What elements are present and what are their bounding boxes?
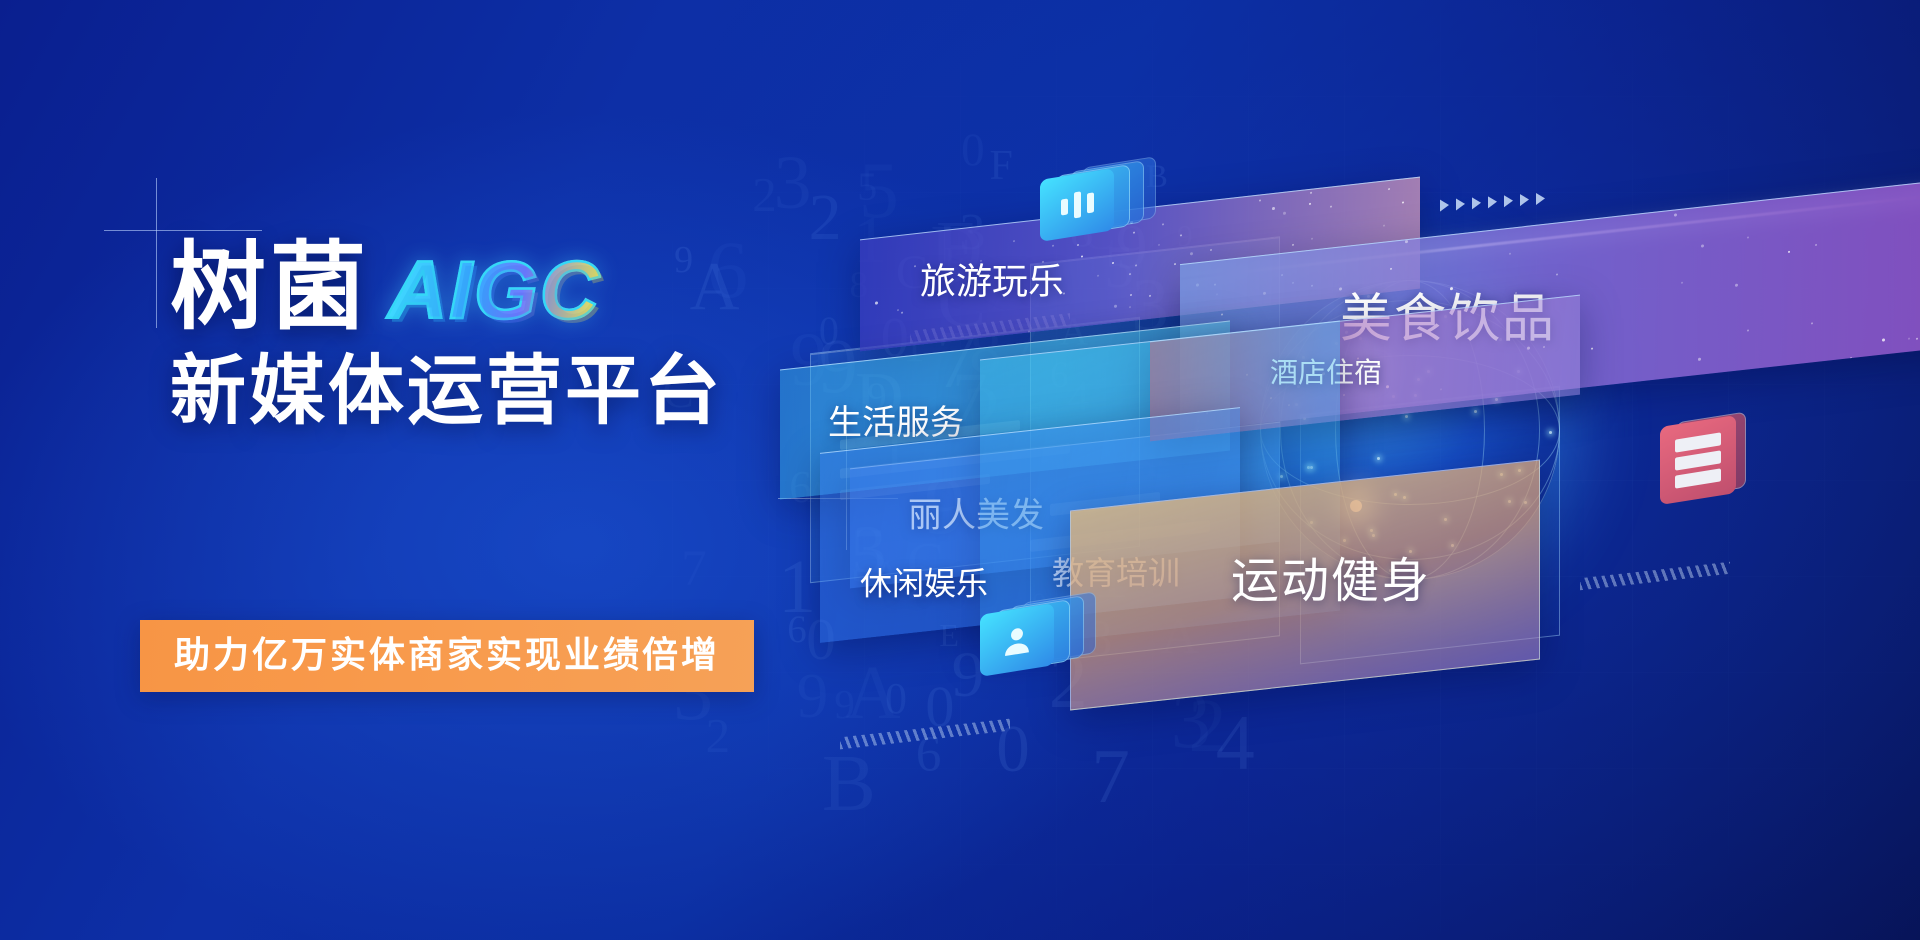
- list-row: [1675, 468, 1721, 488]
- background-code-char: 2: [752, 166, 777, 223]
- category-label: 生活服务: [828, 405, 964, 439]
- arrow-icon: [1472, 197, 1481, 210]
- category-label: 旅游玩乐: [920, 263, 1064, 299]
- background-code-char: 6: [787, 607, 807, 652]
- arrow-icon: [1536, 192, 1545, 205]
- background-code-char: 9: [797, 660, 829, 733]
- headline-line-1: 树菌 AIGC: [170, 228, 890, 336]
- list-row: [1675, 450, 1721, 470]
- brand-name: 树菌: [170, 240, 370, 336]
- hatch-decoration: [1580, 562, 1730, 591]
- promo-banner: 27452591CC1163378D6B9372A7AFC2940CFC0F06…: [0, 0, 1920, 940]
- category-label: 休闲娱乐: [860, 568, 988, 600]
- chart-bar: [1061, 199, 1068, 216]
- user-profile-icon: [980, 595, 1100, 685]
- chart-bar: [1087, 192, 1094, 213]
- background-code-char: B: [822, 737, 876, 830]
- background-code-char: 3: [774, 140, 812, 227]
- background-code-char: 9: [834, 680, 855, 728]
- arrow-icon: [1504, 195, 1513, 208]
- arrow-marker-row: [1440, 192, 1545, 211]
- list-row: [1675, 432, 1721, 452]
- background-code-char: 2: [706, 707, 731, 764]
- globe-node: [1377, 457, 1380, 460]
- aigc-logo-text: AIGC: [388, 250, 601, 336]
- tagline-text: 助力亿万实体商家实现业绩倍增: [174, 634, 720, 675]
- server-list-icon: [1660, 415, 1770, 501]
- background-code-char: 5: [857, 163, 877, 210]
- hatch-decoration: [840, 719, 1010, 750]
- arrow-icon: [1440, 199, 1449, 212]
- chart-bar: [1074, 191, 1081, 218]
- arrow-icon: [1520, 193, 1529, 206]
- category-label: 运动健身: [1231, 558, 1431, 606]
- category-visual: 旅游玩乐 美食饮品 生活服务 丽人美发 酒店住宿 教育培训 休闲娱乐 运动健身: [880, 100, 1920, 840]
- arrow-icon: [1456, 198, 1465, 211]
- tagline-badge: 助力亿万实体商家实现业绩倍增: [140, 620, 754, 692]
- arrow-icon: [1488, 196, 1497, 209]
- background-code-char: 7: [681, 540, 707, 598]
- bar-chart-icon: [1040, 160, 1160, 250]
- globe-node: [1474, 410, 1477, 413]
